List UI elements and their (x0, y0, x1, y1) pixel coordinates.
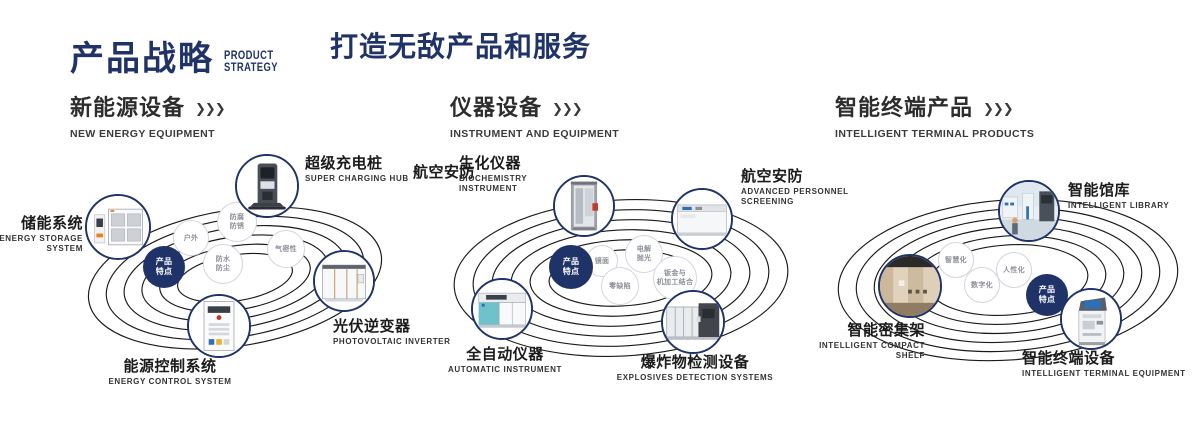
compact-shelving-photo (880, 256, 940, 316)
feature-bubble: 气密性 (267, 230, 305, 268)
section-title-intelligent-terminal: 智能终端产品 ❯❯❯ INTELLIGENT TERMINAL PRODUCTS (835, 97, 1034, 140)
self-service-terminal-photo (1062, 290, 1120, 348)
core-badge: 产品 特点 (143, 246, 185, 288)
section-title-new-energy: 新能源设备 ❯❯❯ NEW ENERGY EQUIPMENT (70, 97, 225, 140)
personnel-screening-machine-photo (673, 190, 731, 248)
node-explosives-detection[interactable] (661, 290, 725, 354)
label-intelligent-library: 智能馆库 INTELLIGENT LIBRARY (1068, 182, 1200, 211)
diagram-intelligent-terminal: 智慧化 数字化 人性化 产品 特点 智能馆库 INTELLIGEN (810, 150, 1200, 410)
node-intelligent-terminal[interactable] (1060, 288, 1122, 350)
section-title-en: INTELLIGENT TERMINAL PRODUCTS (835, 128, 1034, 140)
photovoltaic-inverter-photo (315, 252, 373, 310)
section-title-instrument: 仪器设备 ❯❯❯ INSTRUMENT AND EQUIPMENT (450, 97, 619, 140)
node-energy-storage[interactable] (85, 194, 151, 260)
energy-control-cabinet-photo (189, 296, 249, 356)
label-automatic-instrument: 全自动仪器 AUTOMATIC INSTRUMENT (425, 346, 585, 375)
explosives-detection-system-photo (663, 292, 723, 352)
label-biochemistry-instrument: 生化仪器 BIOCHEMISTRY INSTRUMENT (459, 155, 567, 194)
chevron-right-icon: ❯❯❯ (552, 102, 582, 115)
chevron-right-icon: ❯❯❯ (983, 102, 1013, 115)
automatic-instrument-photo (473, 280, 531, 338)
chevron-right-icon: ❯❯❯ (195, 102, 225, 115)
section-title-cn: 智能终端产品 (835, 97, 973, 119)
label-energy-storage: 储能系统 ENERGY STORAGE SYSTEM (0, 215, 83, 254)
node-energy-control-system[interactable] (187, 294, 251, 358)
page-subtitle: 打造无敌产品和服务 (330, 33, 591, 61)
node-personnel-screening[interactable] (671, 188, 733, 250)
node-intelligent-library[interactable] (998, 180, 1060, 242)
intelligent-library-room-photo (1000, 182, 1058, 240)
page-header: 产品战略 PRODUCT STRATEGY (70, 24, 290, 76)
product-strategy-infographic: 产品战略 PRODUCT STRATEGY 打造无敌产品和服务 新能源设备 ❯❯… (0, 0, 1200, 422)
node-photovoltaic-inverter[interactable] (313, 250, 375, 312)
diagram-instrument: 镜面 电解 抛光 零缺陷 钣金与 机加工结合 产品 特点 航空安防 生化仪器 B… (425, 150, 825, 410)
section-title-cn: 新能源设备 (70, 97, 185, 119)
page-title-cn: 产品战略 (70, 42, 214, 76)
section-title-en: NEW ENERGY EQUIPMENT (70, 128, 225, 140)
core-badge: 产品 特点 (549, 245, 593, 289)
feature-bubble: 户外 (173, 220, 209, 256)
section-title-cn: 仪器设备 (450, 97, 542, 119)
section-title-en: INSTRUMENT AND EQUIPMENT (450, 128, 619, 140)
node-super-charging-hub[interactable] (235, 154, 299, 218)
node-automatic-instrument[interactable] (471, 278, 533, 340)
page-title-en: PRODUCT STRATEGY (224, 51, 278, 74)
super-charging-hub-photo (237, 156, 297, 216)
feature-bubble: 防水 防尘 (203, 244, 243, 284)
feature-bubble: 数字化 (964, 267, 1000, 303)
label-compact-shelf: 智能密集架 INTELLIGENT COMPACT SHELF (740, 322, 925, 361)
node-compact-shelf[interactable] (878, 254, 942, 318)
feature-bubble: 人性化 (996, 252, 1032, 288)
diagram-new-energy: 户外 防腐 防锈 气密性 防水 防尘 产品 特点 储能系统 ENERGY STO… (45, 150, 445, 410)
feature-bubble: 零缺陷 (601, 267, 639, 305)
label-intelligent-terminal: 智能终端设备 INTELLIGENT TERMINAL EQUIPMENT (1022, 350, 1200, 379)
energy-storage-cabinet-photo (87, 196, 149, 258)
label-energy-control-system: 能源控制系统 ENERGY CONTROL SYSTEM (75, 358, 265, 387)
